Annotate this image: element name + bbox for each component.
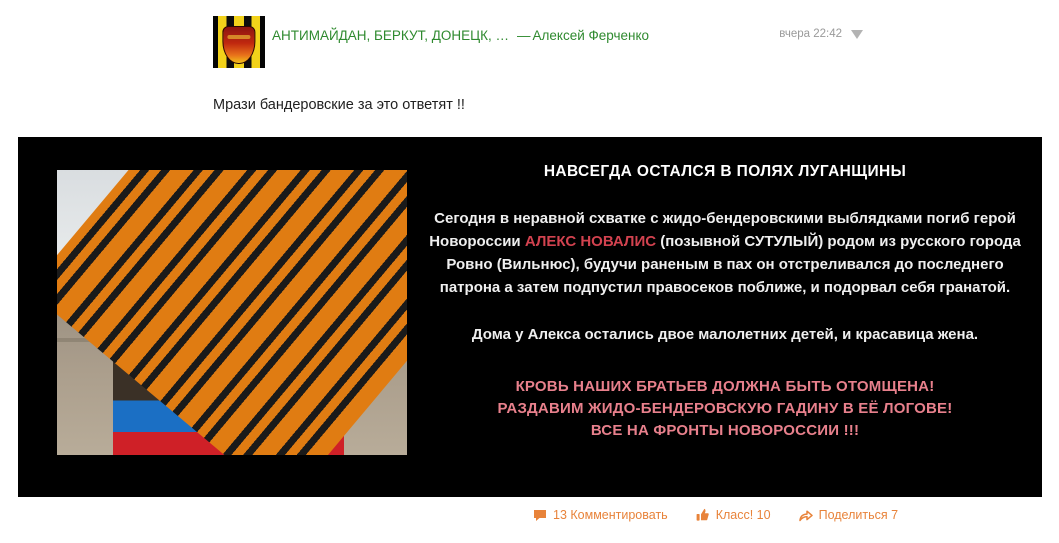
banner-call-line-2: РАЗДАВИМ ЖИДО-БЕНДЕРОВСКУЮ ГАДИНУ В ЕЁ Л… [425, 398, 1025, 420]
group-name-link[interactable]: АНТИМАЙДАН, БЕРКУТ, ДОНЕЦК, … [272, 28, 509, 43]
banner-hero-name: АЛЕКС НОВАЛИС [525, 233, 656, 250]
author-name-link[interactable]: Алексей Ферченко [533, 28, 650, 43]
share-button[interactable]: Поделиться 7 [799, 508, 898, 522]
speech-bubble-icon [533, 509, 547, 522]
post-header: АНТИМАЙДАН, БЕРКУТ, ДОНЕЦК, …—Алексей Фе… [0, 0, 1059, 90]
avatar-background [213, 16, 265, 68]
share-arrow-icon [799, 509, 813, 522]
post-text: Мрази бандеровские за это ответят !! [213, 95, 465, 115]
banner-title: НАВСЕГДА ОСТАЛСЯ В ПОЛЯХ ЛУГАНЩИНЫ [425, 163, 1025, 181]
meta-separator: — [509, 28, 533, 43]
thumbs-up-icon [696, 508, 710, 522]
comment-button-label: 13 Комментировать [553, 508, 668, 522]
post-image-banner[interactable]: Д О Н Е НАВСЕГДА ОСТАЛСЯ В ПОЛЯХ ЛУГАНЩИ… [18, 137, 1042, 497]
post-timestamp-area: вчера 22:42 [779, 28, 863, 40]
banner-text-column: НАВСЕГДА ОСТАЛСЯ В ПОЛЯХ ЛУГАНЩИНЫ Сегод… [425, 163, 1025, 442]
like-button-label: Класс! 10 [716, 508, 771, 522]
comment-button[interactable]: 13 Комментировать [533, 508, 668, 522]
chevron-down-icon[interactable] [851, 30, 863, 39]
banner-paragraph-1: Сегодня в неравной схватке с жидо-бендер… [425, 207, 1025, 299]
banner-paragraph-2: Дома у Алекса остались двое малолетних д… [425, 323, 1025, 346]
avatar[interactable] [213, 16, 265, 68]
banner-call-line-3: ВСЕ НА ФРОНТЫ НОВОРОССИИ !!! [425, 420, 1025, 442]
share-button-label: Поделиться 7 [819, 508, 898, 522]
memorial-photo: Д О Н Е [57, 170, 407, 455]
shield-emblem-icon [222, 26, 255, 63]
like-button[interactable]: Класс! 10 [696, 508, 771, 522]
post-meta: АНТИМАЙДАН, БЕРКУТ, ДОНЕЦК, …—Алексей Фе… [272, 27, 649, 45]
banner-call-line-1: КРОВЬ НАШИХ БРАТЬЕВ ДОЛЖНА БЫТЬ ОТОМЩЕНА… [425, 376, 1025, 398]
banner-call-to-action: КРОВЬ НАШИХ БРАТЬЕВ ДОЛЖНА БЫТЬ ОТОМЩЕНА… [425, 376, 1025, 442]
post-timestamp: вчера 22:42 [779, 28, 842, 40]
post-action-bar: 13 Комментировать Класс! 10 Поделиться 7 [0, 508, 1059, 543]
